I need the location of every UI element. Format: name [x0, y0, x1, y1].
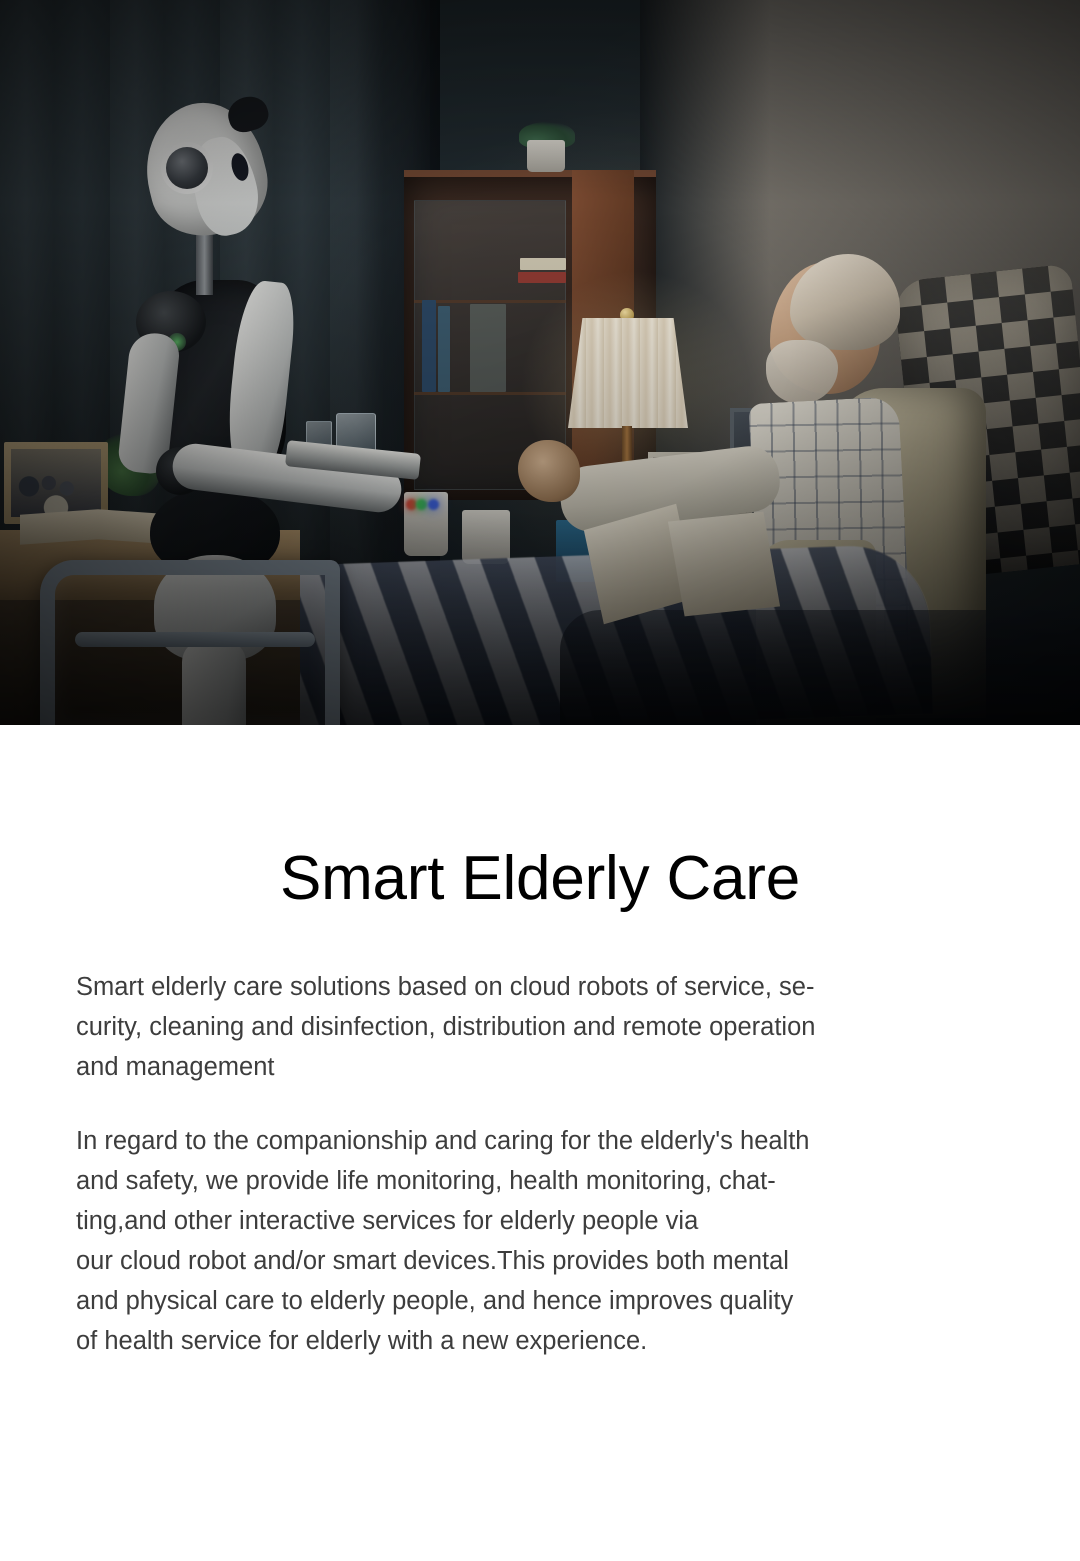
body-copy: Smart elderly care solutions based on cl… — [0, 967, 1080, 1361]
paragraph-line: In regard to the companionship and carin… — [76, 1121, 1004, 1161]
bookshelf-divider — [414, 392, 566, 395]
paragraph-details: In regard to the companionship and carin… — [76, 1121, 1004, 1361]
robot-neck — [196, 227, 213, 295]
paragraph-line: of health service for elderly with a new… — [76, 1321, 1004, 1361]
nightstand-cup — [462, 510, 510, 564]
paragraph-line: our cloud robot and/or smart devices.Thi… — [76, 1241, 1004, 1281]
page-root: Smart Elderly Care Smart elderly care so… — [0, 0, 1080, 1561]
paragraph-line: and management — [76, 1047, 1004, 1087]
elderly-man-hand — [518, 440, 580, 502]
open-book-right-page — [668, 512, 780, 617]
paragraph-line: curity, cleaning and disinfection, distr… — [76, 1007, 1004, 1047]
shelf-book — [438, 306, 450, 392]
robot-ear-module — [166, 147, 208, 189]
shelf-book — [470, 304, 506, 392]
bookshelf-divider — [414, 300, 566, 303]
paragraph-line: and physical care to elderly people, and… — [76, 1281, 1004, 1321]
hero-image — [0, 0, 1080, 725]
paragraph-line: Smart elderly care solutions based on cl… — [76, 967, 1004, 1007]
hospital-bed-rail-bar — [75, 632, 315, 647]
paragraph-summary: Smart elderly care solutions based on cl… — [76, 967, 1004, 1087]
table-lamp-shade — [568, 318, 688, 428]
shelf-book — [520, 258, 566, 270]
desk-photo-image — [11, 449, 101, 517]
shelf-book — [518, 272, 566, 283]
dark-blanket — [560, 610, 1080, 725]
robot-status-led-blue — [428, 499, 439, 510]
robot-status-led-green — [416, 499, 427, 510]
desk-open-book-left — [20, 509, 98, 544]
potted-plant-pot — [527, 140, 565, 172]
content-section: Smart Elderly Care Smart elderly care so… — [0, 846, 1080, 1361]
paragraph-line: ting,and other interactive services for … — [76, 1201, 1004, 1241]
page-title: Smart Elderly Care — [0, 846, 1080, 911]
paragraph-line: and safety, we provide life monitoring, … — [76, 1161, 1004, 1201]
